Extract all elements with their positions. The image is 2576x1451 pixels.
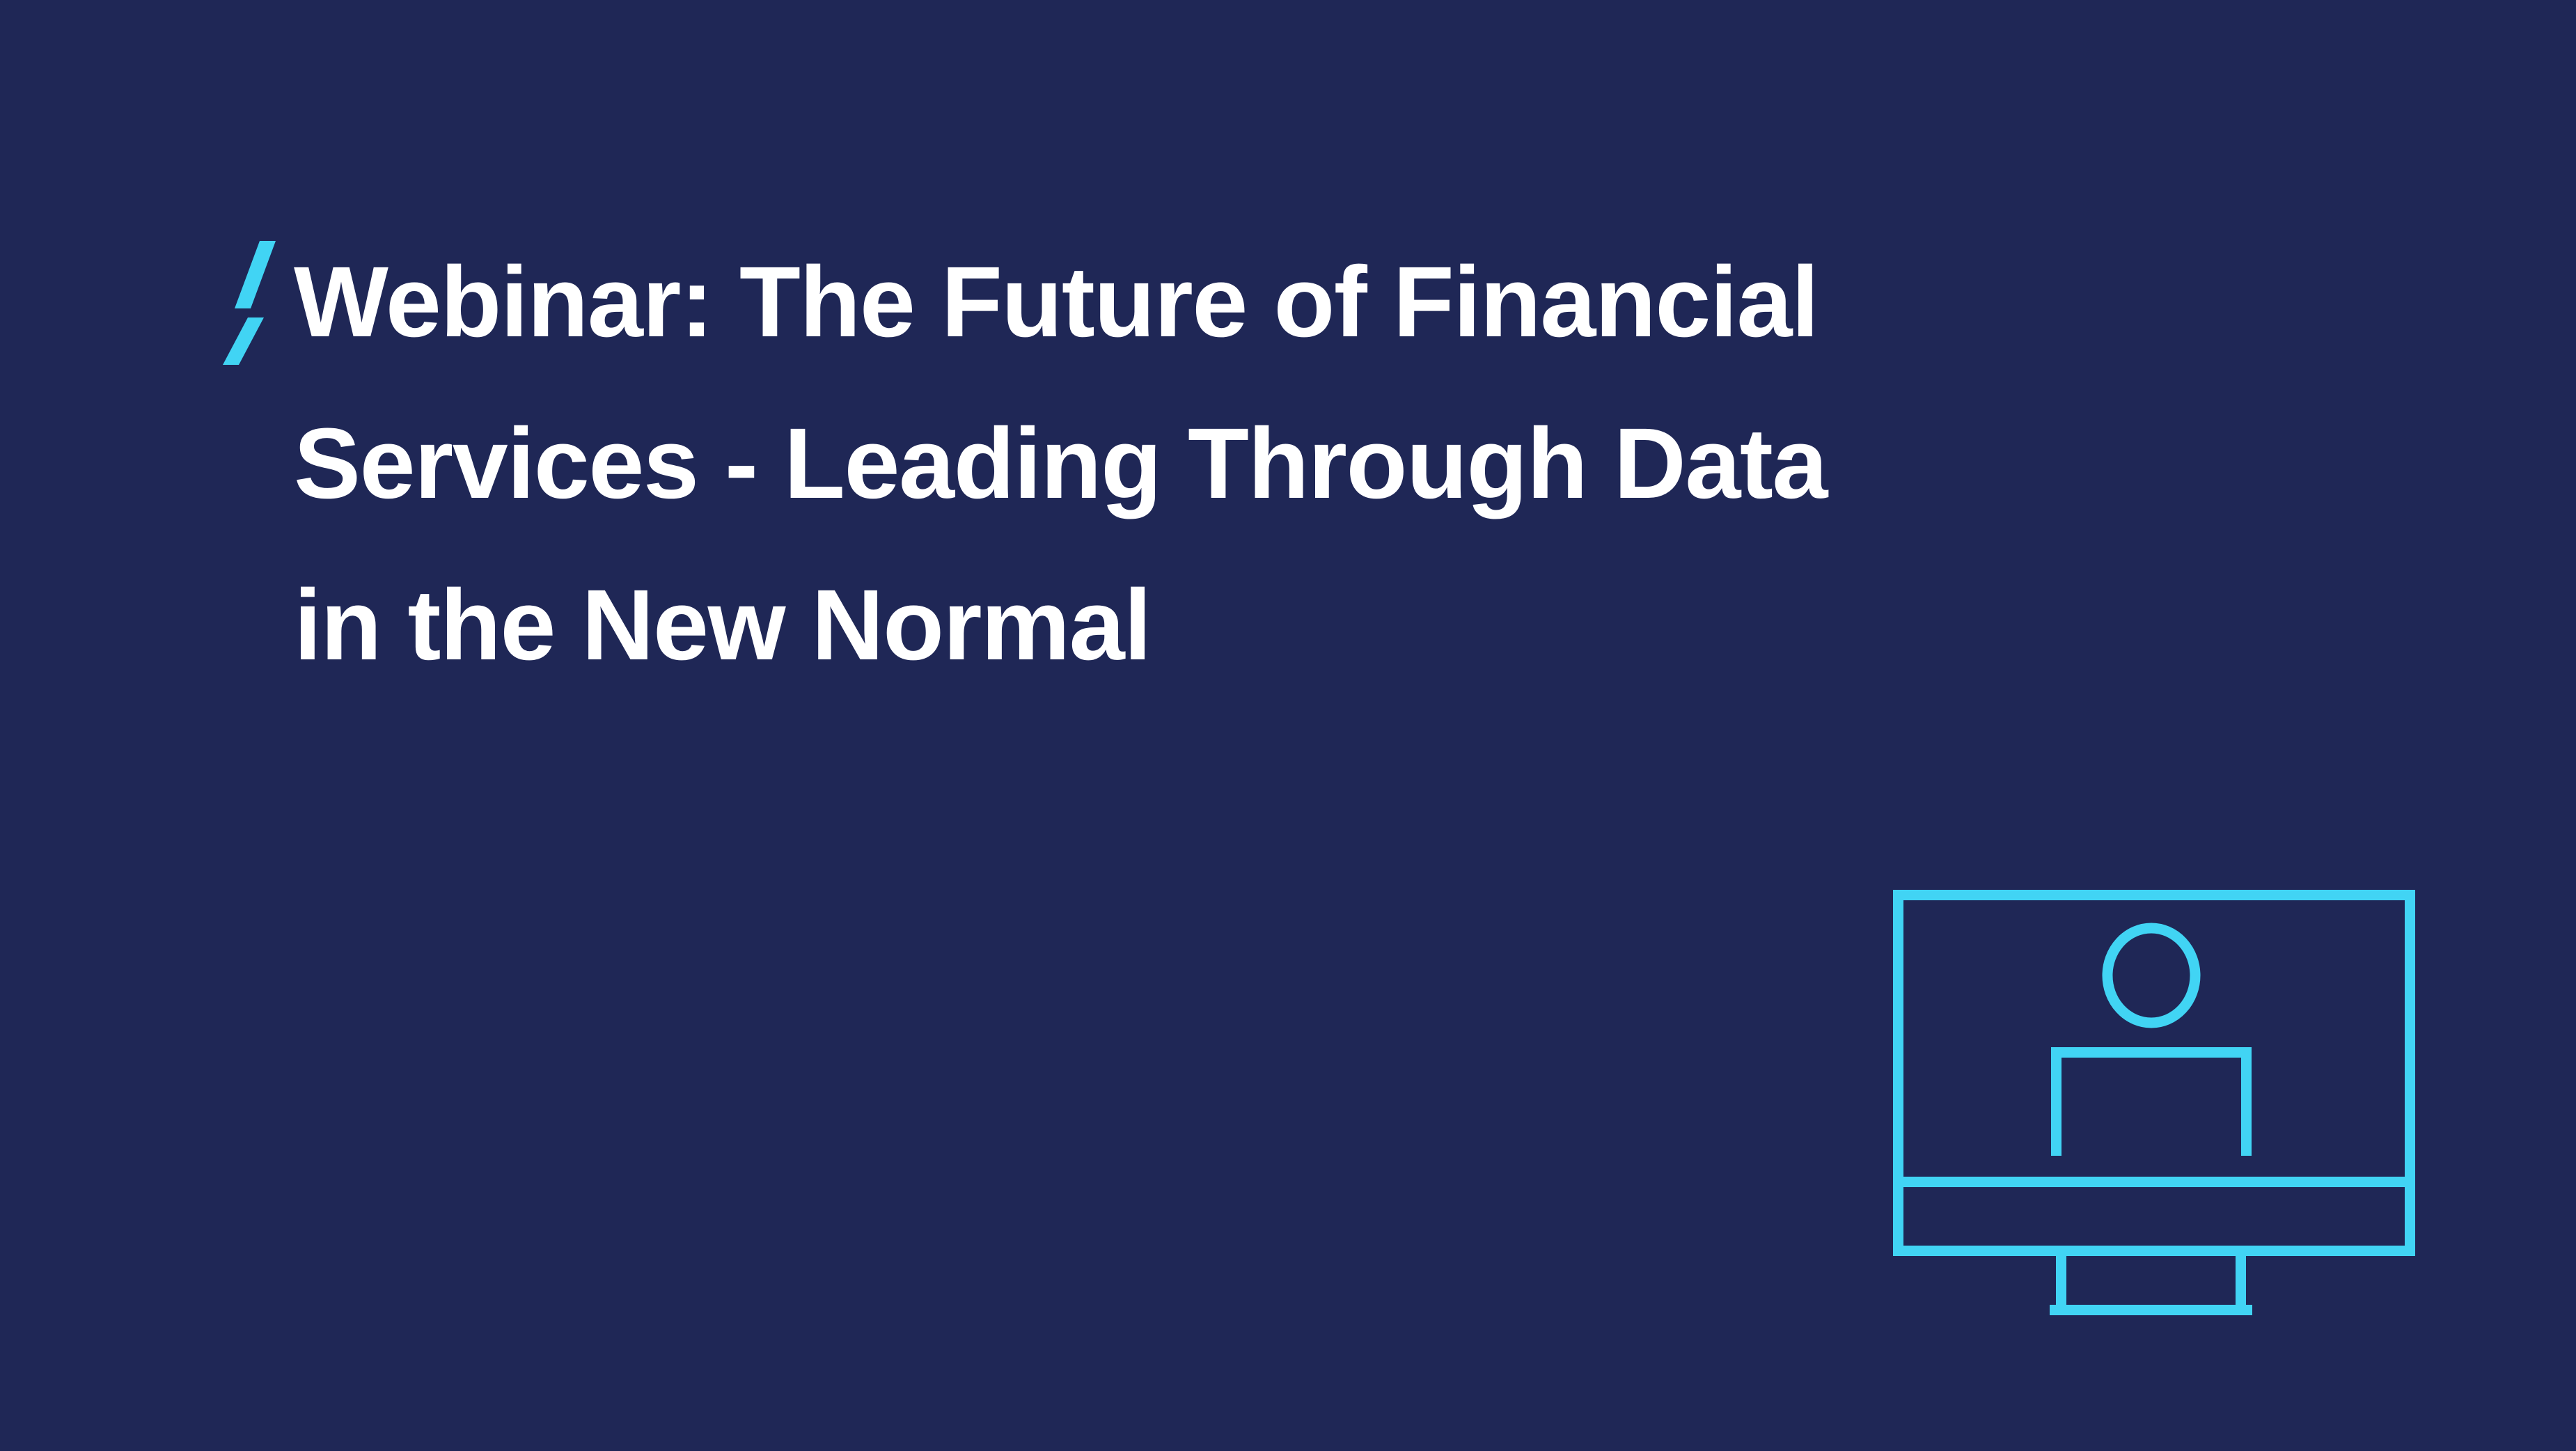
title-lines: Webinar: The Future of Financial Service… (294, 221, 2395, 706)
slash-accent-mark (223, 228, 283, 368)
person-head (2107, 928, 2195, 1023)
monitor-presenter-icon (1883, 881, 2426, 1330)
title-block: Webinar: The Future of Financial Service… (223, 221, 2395, 706)
monitor-frame (1899, 895, 2410, 1251)
monitor-presenter-illustration (1883, 881, 2426, 1330)
title-line-3: in the New Normal (294, 544, 2395, 706)
person-shoulders (2057, 1053, 2247, 1156)
title-line-1: Webinar: The Future of Financial (294, 221, 2395, 383)
slash-accent-icon (223, 228, 283, 368)
slide-canvas: Webinar: The Future of Financial Service… (0, 0, 2576, 1451)
title-line-2: Services - Leading Through Data (294, 383, 2395, 544)
